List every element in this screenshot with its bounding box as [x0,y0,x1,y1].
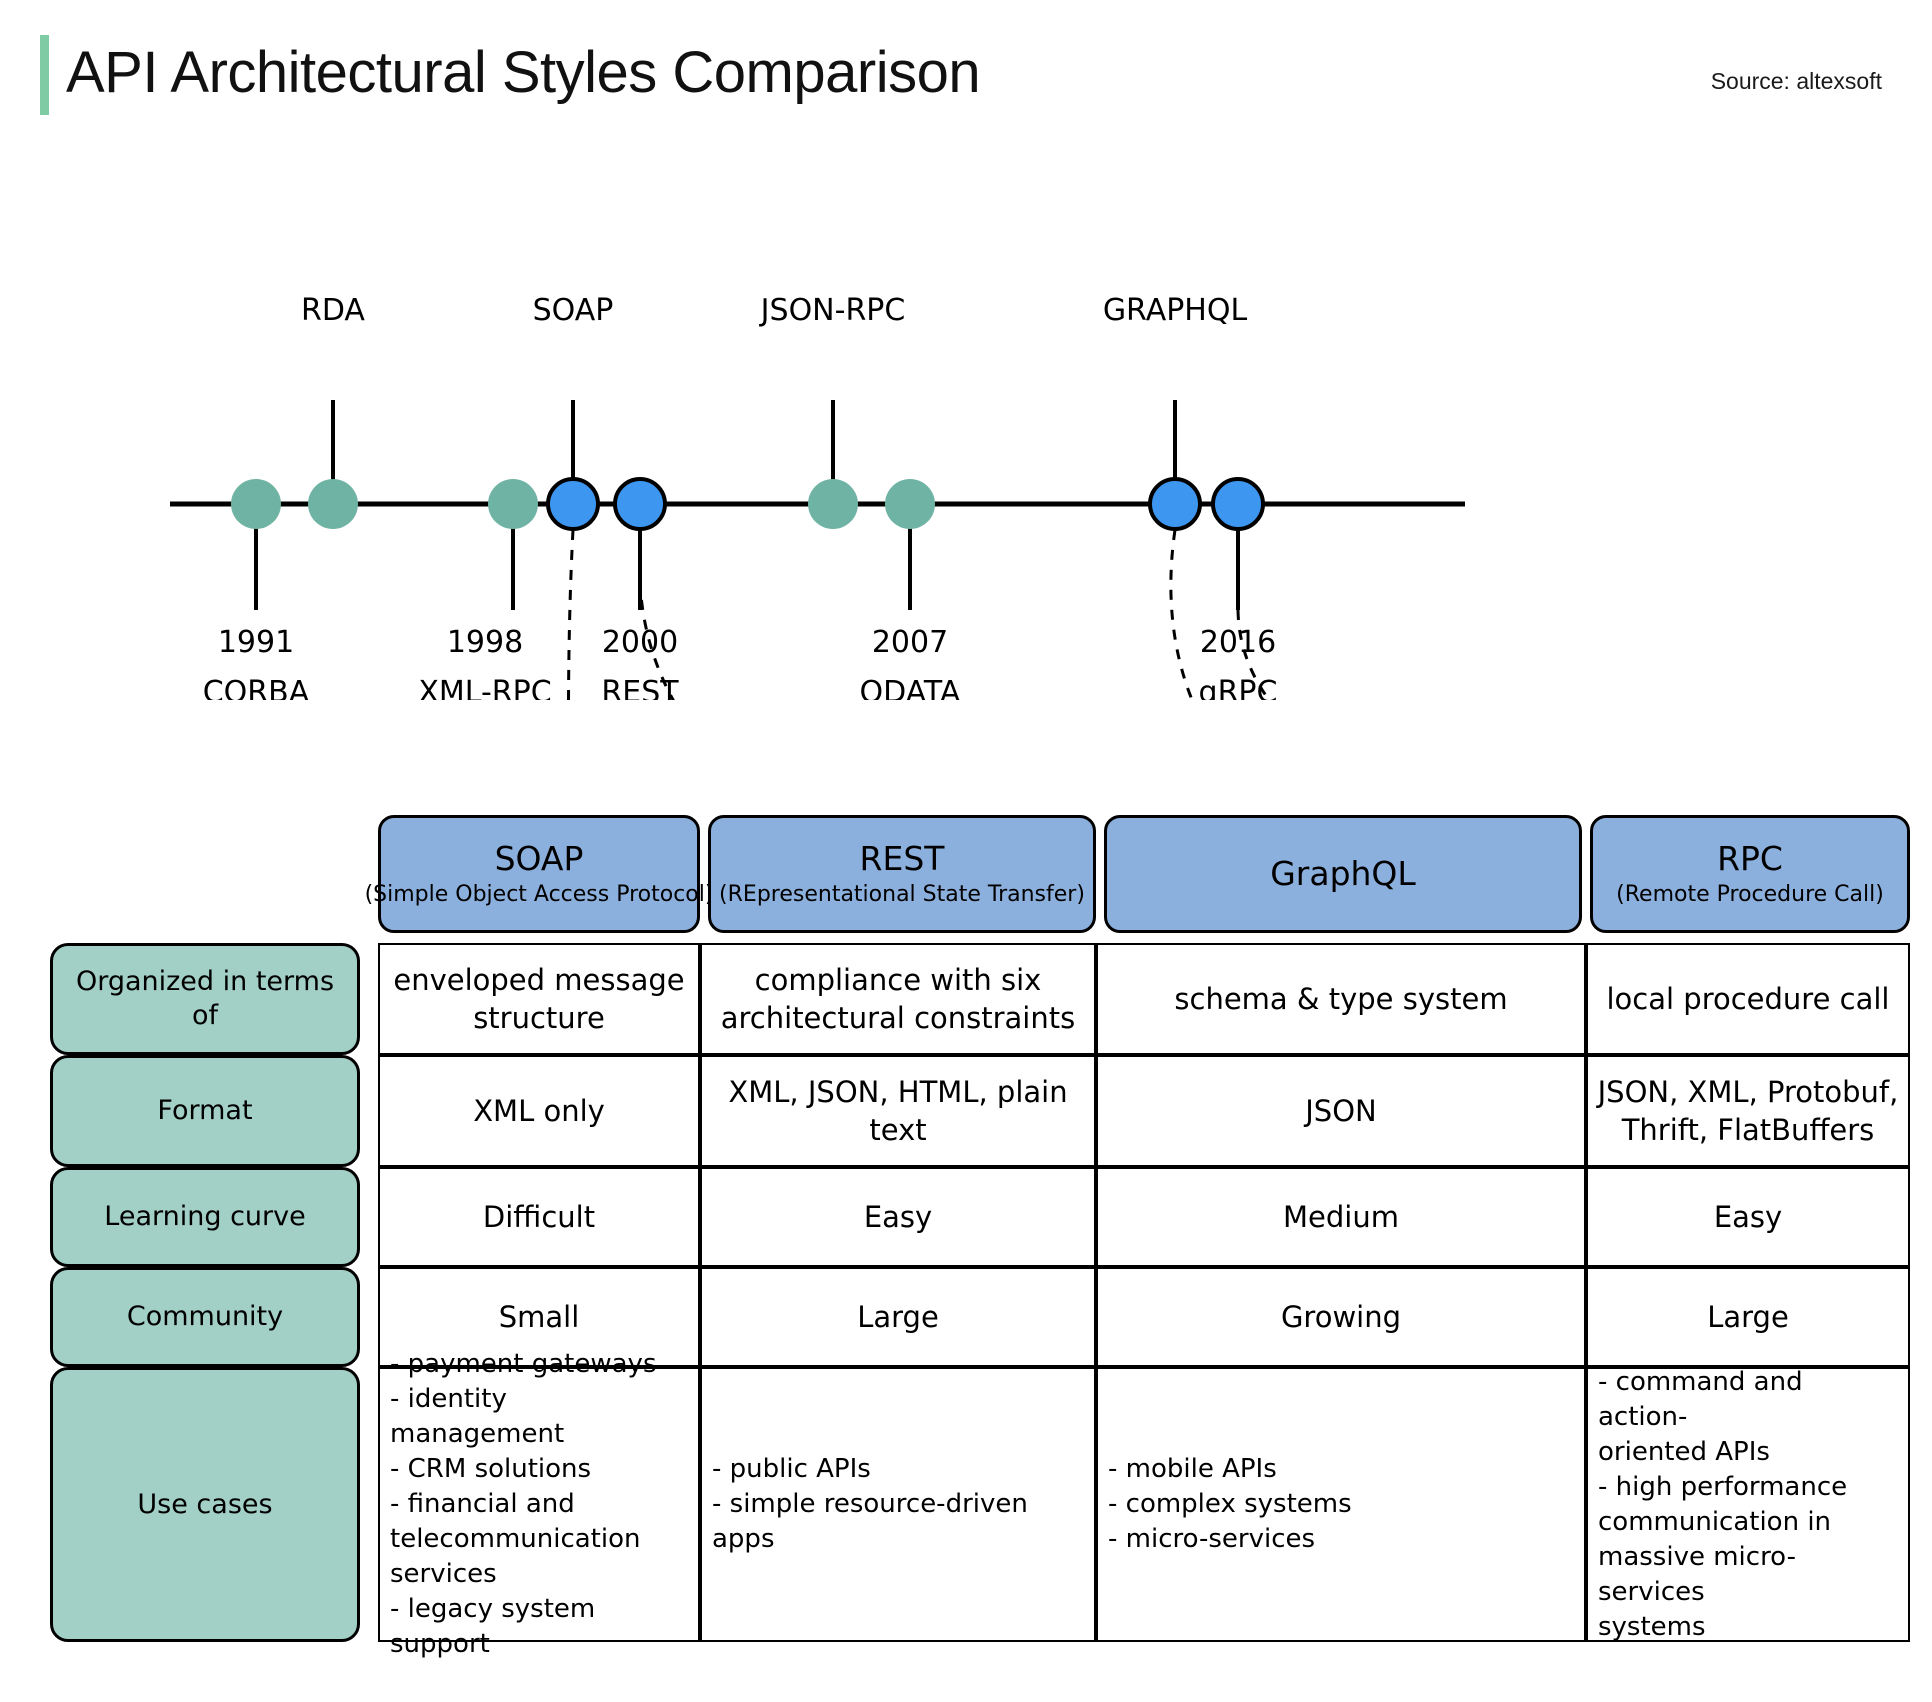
cell-learning-soap: Difficult [378,1167,700,1267]
row-label-format: Format [50,1055,360,1167]
timeline-label-2015-name: GRAPHQL [1103,293,1248,328]
column-header-soap-abbr: SOAP [495,838,584,880]
timeline-label-2016-year: 2016 [1200,625,1276,660]
row-label-learning-curve: Learning curve [50,1167,360,1267]
row-label-community: Community [50,1267,360,1367]
timeline-label-1991-year: 1991 [218,625,294,660]
connector-soap [568,530,573,700]
cell-learning-rpc: Easy [1586,1167,1910,1267]
column-header-rest-abbr: REST [860,838,945,880]
column-header-rpc-full: (Remote Procedure Call) [1616,880,1884,910]
timeline-label-1991-name: CORBA [203,675,310,700]
title-accent-bar [40,35,49,115]
column-header-soap-full: (Simple Object Access Protocol) [365,880,714,910]
column-header-soap: SOAP (Simple Object Access Protocol) [378,815,700,933]
timeline-dot-odata [885,479,935,529]
usecases-graphql-text: - mobile APIs - complex systems - micro-… [1108,1452,1574,1557]
column-header-rpc-abbr: RPC [1717,838,1783,880]
row-label-use-cases: Use cases [50,1367,360,1642]
timeline-label-2016-name: gRPC [1199,675,1278,700]
cell-learning-rest: Easy [700,1167,1096,1267]
cell-usecases-graphql: - mobile APIs - complex systems - micro-… [1096,1367,1586,1642]
timeline-dot-rda [308,479,358,529]
cell-format-rpc: JSON, XML, Protobuf, Thrift, FlatBuffers [1586,1055,1910,1167]
connector-grpc [1238,610,1740,700]
timeline-dot-soap [548,479,598,529]
timeline-label-2000-name: REST [601,675,679,700]
usecases-rpc-text: - command and action- oriented APIs - hi… [1598,1365,1898,1645]
timeline-label-2007-name: ODATA [860,675,961,700]
cell-organized-graphql: schema & type system [1096,943,1586,1055]
cell-usecases-rpc: - command and action- oriented APIs - hi… [1586,1367,1910,1642]
column-header-rpc: RPC (Remote Procedure Call) [1590,815,1910,933]
cell-community-graphql: Growing [1096,1267,1586,1367]
cell-organized-rpc: local procedure call [1586,943,1910,1055]
column-header-rest: REST (REpresentational State Transfer) [708,815,1096,933]
comparison-table: SOAP (Simple Object Access Protocol) RES… [0,815,1932,1695]
timeline-label-1998-year: 1998 [447,625,523,660]
timeline-dot-corba [231,479,281,529]
column-header-graphql-abbr: GraphQL [1270,850,1416,898]
cell-format-rest: XML, JSON, HTML, plain text [700,1055,1096,1167]
cell-community-rest: Large [700,1267,1096,1367]
usecases-soap-text: - payment gateways - identity management… [390,1347,688,1662]
column-header-rest-full: (REpresentational State Transfer) [719,880,1085,910]
row-label-organized: Organized in terms of [50,943,360,1055]
timeline-dot-rest [615,479,665,529]
timeline-label-1998-name: XML-RPC [418,675,551,700]
cell-usecases-soap: - payment gateways - identity management… [378,1367,700,1642]
cell-organized-soap: enveloped message structure [378,943,700,1055]
api-timeline: 1993 RDA 1999 SOAP 2005 JSON-RPC 2015 GR… [0,280,1932,700]
cell-format-graphql: JSON [1096,1055,1586,1167]
source-label: Source: altexsoft [1711,68,1882,95]
cell-community-rpc: Large [1586,1267,1910,1367]
cell-format-soap: XML only [378,1055,700,1167]
timeline-dot-xmlrpc [488,479,538,529]
timeline-dot-jsonrpc [808,479,858,529]
timeline-label-2007-year: 2007 [872,625,948,660]
timeline-label-2005-name: JSON-RPC [759,293,906,328]
timeline-dot-graphql [1150,479,1200,529]
timeline-label-2000-year: 2000 [602,625,678,660]
timeline-label-1993-name: RDA [301,293,365,328]
usecases-rest-text: - public APIs - simple resource-driven a… [712,1452,1084,1557]
cell-organized-rest: compliance with six architectural constr… [700,943,1096,1055]
cell-usecases-rest: - public APIs - simple resource-driven a… [700,1367,1096,1642]
column-header-graphql: GraphQL [1104,815,1582,933]
page-header: API Architectural Styles Comparison Sour… [0,0,1932,150]
cell-learning-graphql: Medium [1096,1167,1586,1267]
timeline-dot-grpc [1213,479,1263,529]
timeline-label-1999-name: SOAP [533,293,614,328]
page-title: API Architectural Styles Comparison [66,30,980,116]
